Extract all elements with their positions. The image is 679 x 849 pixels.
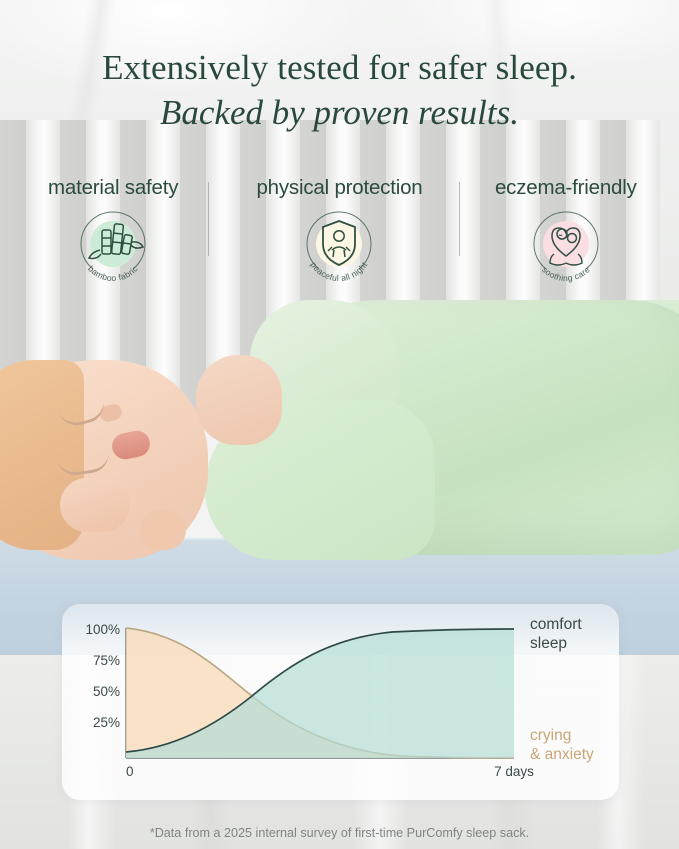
legend-comfort-line1: comfort	[530, 616, 582, 633]
legend-crying-line1: crying	[530, 727, 571, 744]
y-tick-25: 25%	[93, 715, 120, 730]
y-tick-75: 75%	[93, 653, 120, 668]
y-tick-100: 100%	[85, 622, 120, 637]
baby-hand	[196, 355, 282, 445]
legend-crying-line2: & anxiety	[530, 746, 594, 763]
footnote: *Data from a 2025 internal survey of fir…	[0, 826, 679, 840]
svg-text:soothing care: soothing care	[540, 264, 592, 283]
feature-eczema-friendly: eczema-friendly	[453, 176, 679, 288]
feature-row: material safety	[0, 176, 679, 286]
feature-label: physical protection	[256, 176, 422, 200]
feature-material-safety: material safety	[0, 176, 226, 288]
legend-comfort-sleep: comfort sleep	[530, 616, 670, 653]
feature-physical-protection: physical protection	[226, 176, 452, 288]
headline-line-1: Extensively tested for safer sleep.	[0, 46, 679, 90]
headline: Extensively tested for safer sleep. Back…	[0, 46, 679, 136]
y-tick-50: 50%	[93, 684, 120, 699]
headline-line-2: Backed by proven results.	[0, 90, 679, 136]
x-tick-start: 0	[126, 764, 134, 779]
feature-label: material safety	[48, 176, 178, 200]
baby-ear	[140, 510, 186, 550]
badge-soothing: soothing care	[523, 204, 609, 288]
legend-comfort-line2: sleep	[530, 635, 567, 652]
x-tick-end: 7 days	[494, 764, 534, 779]
badge-caption: soothing care	[540, 264, 592, 283]
badge-shield: peaceful all night	[296, 204, 382, 288]
feature-label: eczema-friendly	[495, 176, 637, 200]
legend-crying-anxiety: crying & anxiety	[530, 727, 670, 764]
baby-cheek	[60, 478, 130, 532]
poster-canvas: Extensively tested for safer sleep. Back…	[0, 0, 679, 849]
badge-bamboo: bamboo fabric	[70, 204, 156, 288]
